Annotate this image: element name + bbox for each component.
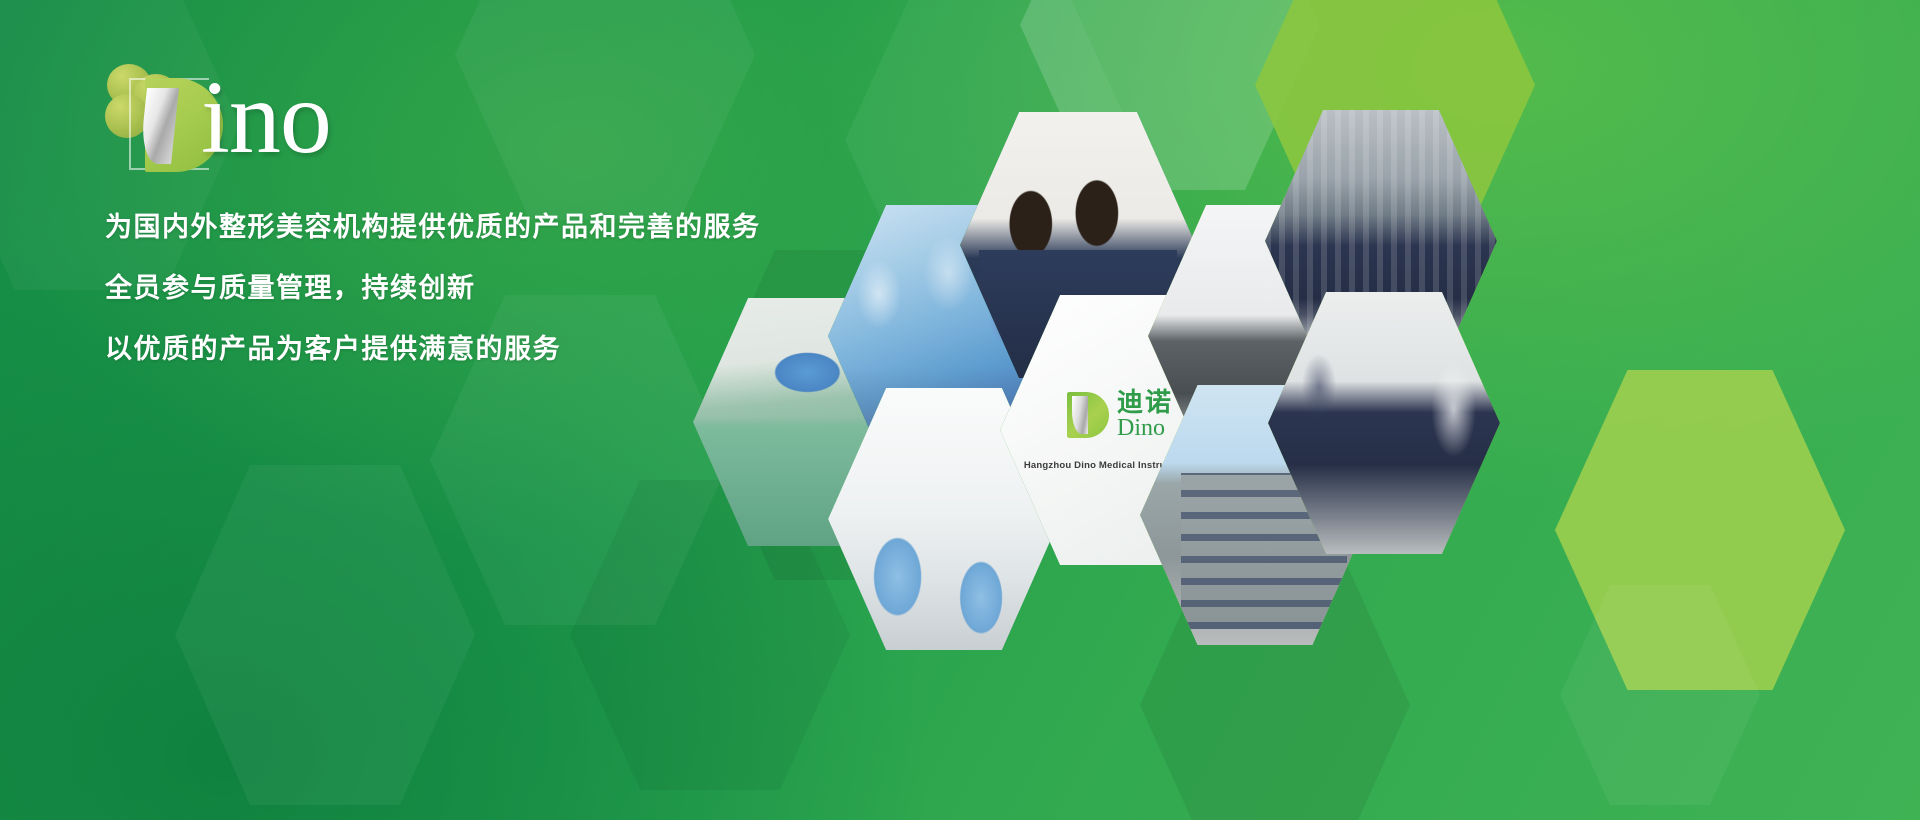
brand-english-name: Dino	[1117, 416, 1165, 440]
brand-leaf-icon	[1067, 392, 1109, 438]
brand-logo: 迪诺 ® Dino	[1067, 389, 1173, 440]
hero-banner: ino 为国内外整形美容机构提供优质的产品和完善的服务 全员参与质量管理，持续创…	[0, 0, 1920, 820]
photo-hexagon-cluster: 迪诺 ® Dino Hangzhou Dino Medical Instrume…	[0, 0, 1920, 820]
brand-chinese-name: 迪诺 ®	[1117, 389, 1173, 415]
